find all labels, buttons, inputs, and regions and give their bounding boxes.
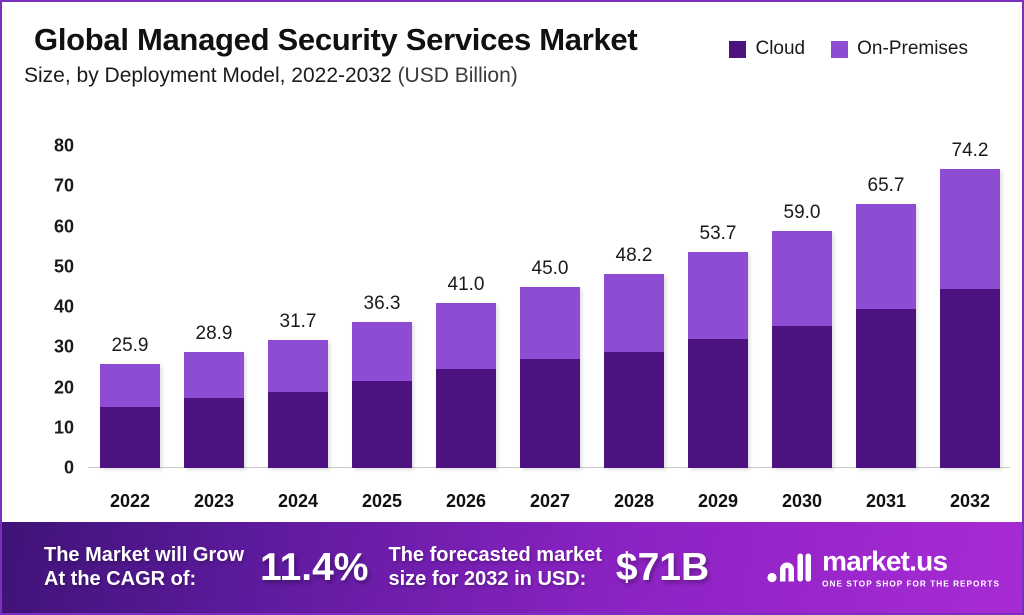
x-axis-label: 2027 xyxy=(530,491,570,512)
stacked-bar[interactable] xyxy=(184,352,244,468)
legend-label-on-premises: On-Premises xyxy=(857,38,968,60)
bar-segment-cloud[interactable] xyxy=(520,359,580,468)
bar-segment-cloud[interactable] xyxy=(100,407,160,468)
x-axis-label: 2030 xyxy=(782,491,822,512)
x-axis-label: 2024 xyxy=(278,491,318,512)
bar-segment-on-premises[interactable] xyxy=(856,204,916,309)
bar-group[interactable]: 59.02030 xyxy=(760,102,844,522)
logo-tagline: ONE STOP SHOP FOR THE REPORTS xyxy=(822,579,1000,588)
bar-group[interactable]: 31.72024 xyxy=(256,102,340,522)
bar-group[interactable]: 41.02026 xyxy=(424,102,508,522)
chart-plot-area: 01020304050607080 25.9202228.9202331.720… xyxy=(2,102,1024,522)
bar-segment-on-premises[interactable] xyxy=(184,352,244,399)
chart-legend: Cloud On-Premises xyxy=(729,38,968,60)
stacked-bar[interactable] xyxy=(352,322,412,468)
bar-segment-on-premises[interactable] xyxy=(436,303,496,369)
bar-value-label: 65.7 xyxy=(868,175,905,197)
chart-header: Global Managed Security Services Market … xyxy=(2,2,1024,102)
bar-segment-on-premises[interactable] xyxy=(772,231,832,326)
page-title: Global Managed Security Services Market xyxy=(34,22,637,58)
bar-segment-cloud[interactable] xyxy=(268,392,328,468)
bar-segment-on-premises[interactable] xyxy=(352,322,412,381)
footer-banner: The Market will Grow At the CAGR of: 11.… xyxy=(2,522,1024,613)
stacked-bar[interactable] xyxy=(604,274,664,468)
bar-group[interactable]: 25.92022 xyxy=(88,102,172,522)
y-axis-tick: 20 xyxy=(54,377,74,398)
bar-group[interactable]: 74.22032 xyxy=(928,102,1012,522)
bar-value-label: 25.9 xyxy=(112,335,149,357)
legend-item-on-premises[interactable]: On-Premises xyxy=(831,38,968,60)
infographic-root: Global Managed Security Services Market … xyxy=(0,0,1024,615)
y-axis-tick: 70 xyxy=(54,176,74,197)
legend-item-cloud[interactable]: Cloud xyxy=(729,38,805,60)
logo-bars-icon xyxy=(766,548,812,588)
x-axis-label: 2028 xyxy=(614,491,654,512)
x-axis-label: 2023 xyxy=(194,491,234,512)
footer-forecast-block: The forecasted market size for 2032 in U… xyxy=(388,522,709,613)
y-axis: 01020304050607080 xyxy=(2,102,86,522)
bar-segment-cloud[interactable] xyxy=(352,381,412,468)
footer-cagr-label: The Market will Grow At the CAGR of: xyxy=(44,544,244,591)
footer-forecast-value: $71B xyxy=(616,546,709,590)
bar-value-label: 31.7 xyxy=(280,311,317,333)
bar-value-label: 59.0 xyxy=(784,202,821,224)
footer-cagr-block: The Market will Grow At the CAGR of: 11.… xyxy=(44,522,368,613)
bar-series-container: 25.9202228.9202331.7202436.3202541.02026… xyxy=(88,102,1012,522)
bar-value-label: 28.9 xyxy=(196,323,233,345)
bar-segment-cloud[interactable] xyxy=(184,398,244,468)
subtitle-main: Size, by Deployment Model, 2022-2032 xyxy=(24,64,392,87)
stacked-bar[interactable] xyxy=(268,340,328,468)
footer-forecast-label-line1: The forecasted market xyxy=(388,544,601,568)
y-axis-tick: 40 xyxy=(54,297,74,318)
stacked-bar[interactable] xyxy=(772,231,832,468)
bar-group[interactable]: 28.92023 xyxy=(172,102,256,522)
bar-value-label: 48.2 xyxy=(616,245,653,267)
x-axis-label: 2026 xyxy=(446,491,486,512)
footer-cagr-label-line2: At the CAGR of: xyxy=(44,568,244,592)
market-us-logo[interactable]: market.us ONE STOP SHOP FOR THE REPORTS xyxy=(766,547,1000,588)
x-axis-label: 2029 xyxy=(698,491,738,512)
bar-segment-on-premises[interactable] xyxy=(100,364,160,407)
bar-group[interactable]: 65.72031 xyxy=(844,102,928,522)
stacked-bar[interactable] xyxy=(940,169,1000,468)
bar-segment-cloud[interactable] xyxy=(772,326,832,468)
bar-segment-on-premises[interactable] xyxy=(940,169,1000,288)
bar-group[interactable]: 53.72029 xyxy=(676,102,760,522)
subtitle-unit: (USD Billion) xyxy=(398,64,518,87)
stacked-bar[interactable] xyxy=(856,204,916,468)
bar-segment-on-premises[interactable] xyxy=(688,252,748,339)
x-axis-label: 2025 xyxy=(362,491,402,512)
chart-subtitle: Size, by Deployment Model, 2022-2032 (US… xyxy=(24,64,518,88)
bar-value-label: 53.7 xyxy=(700,223,737,245)
stacked-bar[interactable] xyxy=(520,287,580,468)
logo-text-group: market.us ONE STOP SHOP FOR THE REPORTS xyxy=(822,547,1000,588)
bar-segment-cloud[interactable] xyxy=(940,289,1000,469)
x-axis-label: 2031 xyxy=(866,491,906,512)
bar-value-label: 74.2 xyxy=(952,140,989,162)
stacked-bar[interactable] xyxy=(100,364,160,468)
bar-segment-on-premises[interactable] xyxy=(604,274,664,352)
stacked-bar[interactable] xyxy=(436,303,496,468)
bar-segment-cloud[interactable] xyxy=(604,352,664,468)
bar-segment-cloud[interactable] xyxy=(688,339,748,468)
footer-cagr-label-line1: The Market will Grow xyxy=(44,544,244,568)
bar-segment-cloud[interactable] xyxy=(436,369,496,468)
footer-forecast-label-line2: size for 2032 in USD: xyxy=(388,568,601,592)
y-axis-tick: 50 xyxy=(54,256,74,277)
bar-value-label: 36.3 xyxy=(364,293,401,315)
legend-swatch-on-premises xyxy=(831,41,848,58)
logo-name: market.us xyxy=(822,547,1000,575)
legend-swatch-cloud xyxy=(729,41,746,58)
bar-segment-cloud[interactable] xyxy=(856,309,916,468)
x-axis-label: 2022 xyxy=(110,491,150,512)
bar-group[interactable]: 45.02027 xyxy=(508,102,592,522)
x-axis-label: 2032 xyxy=(950,491,990,512)
y-axis-tick: 10 xyxy=(54,417,74,438)
bar-group[interactable]: 48.22028 xyxy=(592,102,676,522)
y-axis-tick: 0 xyxy=(64,458,74,479)
bar-value-label: 45.0 xyxy=(532,258,569,280)
bar-segment-on-premises[interactable] xyxy=(520,287,580,359)
legend-label-cloud: Cloud xyxy=(755,38,805,60)
bar-group[interactable]: 36.32025 xyxy=(340,102,424,522)
stacked-bar[interactable] xyxy=(688,252,748,468)
y-axis-tick: 60 xyxy=(54,216,74,237)
bar-value-label: 41.0 xyxy=(448,274,485,296)
bar-segment-on-premises[interactable] xyxy=(268,340,328,391)
footer-cagr-value: 11.4% xyxy=(260,546,368,590)
footer-forecast-label: The forecasted market size for 2032 in U… xyxy=(388,544,601,591)
y-axis-tick: 30 xyxy=(54,337,74,358)
y-axis-tick: 80 xyxy=(54,136,74,157)
